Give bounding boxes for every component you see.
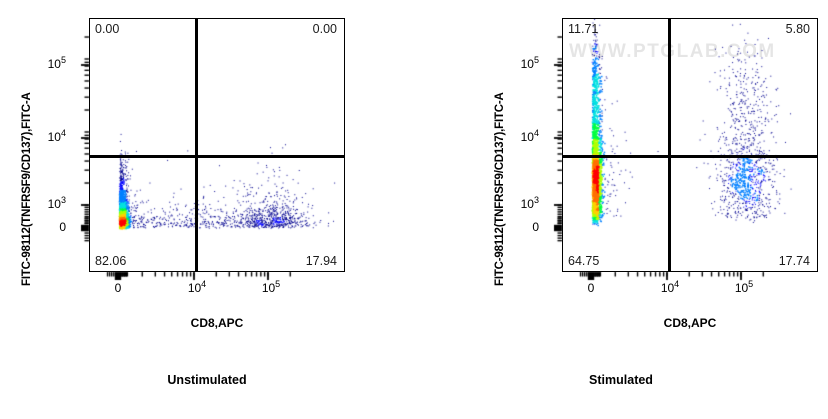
quadrant-label-upper-right: 0.00 <box>313 22 337 36</box>
x-tick-label-1e5: 105 <box>727 281 761 295</box>
y-tick-label-1e3: 103 <box>24 197 66 211</box>
quadrant-vertical-gate[interactable] <box>668 19 671 271</box>
panel-stimulated: FITC-98112(TNFRSF9/CD137),FITC-A 105 104… <box>414 0 828 419</box>
quadrant-label-upper-right: 5.80 <box>786 22 810 36</box>
x-tick-label-1e4: 104 <box>180 281 214 295</box>
y-tick-label-1e5: 105 <box>497 57 539 71</box>
quadrant-label-upper-left: 11.71 <box>568 22 598 36</box>
y-tick-label-1e4: 104 <box>24 130 66 144</box>
y-tick-label-0: 0 <box>24 220 66 234</box>
quadrant-horizontal-gate[interactable] <box>563 155 817 158</box>
x-tick-label-1e5: 105 <box>254 281 288 295</box>
quadrant-label-lower-right: 17.74 <box>779 254 810 268</box>
quadrant-label-lower-left: 64.75 <box>568 254 599 268</box>
y-tick-label-1e5: 105 <box>24 57 66 71</box>
panel-unstimulated: FITC-98112(TNFRSF9/CD137),FITC-A 105 104… <box>0 0 414 419</box>
x-tick-label-0: 0 <box>576 281 606 295</box>
x-axis-title: CD8,APC <box>562 316 818 330</box>
x-axis-title: CD8,APC <box>89 316 345 330</box>
panel-caption-unstimulated: Unstimulated <box>0 373 414 387</box>
quadrant-label-upper-left: 0.00 <box>95 22 119 36</box>
quadrant-horizontal-gate[interactable] <box>90 155 344 158</box>
quadrant-vertical-gate[interactable] <box>195 19 198 271</box>
scatter-plot-area-unstimulated[interactable]: 0.00 0.00 82.06 17.94 <box>89 18 345 272</box>
quadrant-label-lower-right: 17.94 <box>306 254 337 268</box>
flow-cytometry-figure: FITC-98112(TNFRSF9/CD137),FITC-A 105 104… <box>0 0 828 419</box>
quadrant-label-lower-left: 82.06 <box>95 254 126 268</box>
y-tick-label-1e4: 104 <box>497 130 539 144</box>
scatter-plot-area-stimulated[interactable]: WWW.PTGLAB.COM 11.71 5.80 64.75 17.74 <box>562 18 818 272</box>
y-axis-title: FITC-98112(TNFRSF9/CD137),FITC-A <box>494 92 506 286</box>
y-tick-label-0: 0 <box>497 220 539 234</box>
y-tick-label-1e3: 103 <box>497 197 539 211</box>
x-tick-label-1e4: 104 <box>653 281 687 295</box>
panel-caption-stimulated: Stimulated <box>414 373 828 387</box>
x-tick-label-0: 0 <box>103 281 133 295</box>
y-axis-title: FITC-98112(TNFRSF9/CD137),FITC-A <box>21 92 33 286</box>
